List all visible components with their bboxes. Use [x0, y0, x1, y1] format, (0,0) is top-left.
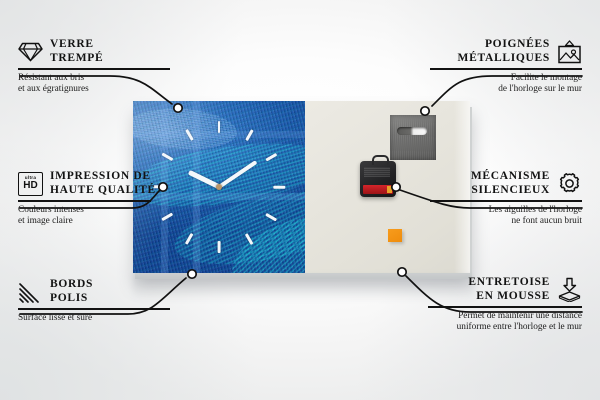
ultra-hd-icon: ultra HD	[18, 171, 43, 196]
foam-spacer-pad	[388, 229, 402, 242]
callout-divider	[18, 68, 170, 70]
callout-description: Permet de maintenir une distance uniform…	[428, 311, 582, 334]
clock-tick	[185, 233, 193, 245]
callout-divider	[18, 200, 151, 202]
movement-hook	[372, 155, 389, 165]
clock-center-cap	[216, 184, 222, 190]
battery-terminal	[387, 186, 392, 193]
callout-title: ENTRETOISE EN MOUSSE	[468, 276, 550, 303]
clock-tick	[265, 213, 277, 221]
callout-verre-trempe: VERRE TREMPÉ Résistant aux bris et aux é…	[18, 38, 170, 95]
callout-header: ENTRETOISE EN MOUSSE	[428, 276, 582, 303]
gear-icon	[557, 171, 582, 196]
battery	[363, 185, 393, 194]
diamond-icon	[18, 39, 43, 64]
clock-movement	[360, 161, 396, 197]
callout-divider	[430, 68, 582, 70]
callout-impression-haute-qualite: ultra HD IMPRESSION DE HAUTE QUALITÉ Cou…	[18, 170, 170, 227]
callout-description: Couleurs intenses et image claire	[18, 205, 170, 228]
callout-header: BORDS POLIS	[18, 278, 170, 305]
product-image	[133, 101, 470, 273]
callout-divider	[428, 306, 582, 308]
callout-title: BORDS POLIS	[50, 278, 93, 305]
clock-tick	[218, 121, 221, 133]
foam-spacer-icon	[557, 277, 582, 302]
callout-title: IMPRESSION DE HAUTE QUALITÉ	[50, 170, 156, 197]
callout-poignees-metalliques: POIGNÉES MÉTALLIQUES Facilite le montage…	[430, 38, 582, 95]
polished-edges-icon	[18, 279, 43, 304]
clock-tick	[265, 153, 277, 161]
callout-header: VERRE TREMPÉ	[18, 38, 170, 65]
callout-divider	[18, 308, 170, 310]
clock-tick	[185, 129, 193, 141]
hanger-keyhole-slot	[397, 127, 427, 135]
product-reflection	[133, 275, 474, 301]
clock-tick	[245, 233, 253, 245]
movement-label	[364, 167, 390, 177]
clock-tick	[245, 129, 253, 141]
callout-entretoise-en-mousse: ENTRETOISE EN MOUSSE Permet de maintenir…	[428, 276, 582, 333]
callout-divider	[430, 200, 582, 202]
callout-header: ultra HD IMPRESSION DE HAUTE QUALITÉ	[18, 170, 170, 197]
callout-description: Facilite le montage de l'horloge sur le …	[430, 73, 582, 96]
callout-description: Résistant aux bris et aux égratignures	[18, 73, 170, 96]
callout-bords-polis: BORDS POLIS Surface lisse et sûre	[18, 278, 170, 324]
clock-tick	[273, 186, 285, 189]
product-infographic: VERRE TREMPÉ Résistant aux bris et aux é…	[0, 0, 600, 400]
picture-frame-hanger-icon	[557, 39, 582, 64]
callout-title: MÉCANISME SILENCIEUX	[471, 170, 550, 197]
callout-mecanisme-silencieux: MÉCANISME SILENCIEUX Les aiguilles de l'…	[430, 170, 582, 227]
clock-tick	[218, 241, 221, 253]
callout-title: VERRE TREMPÉ	[50, 38, 103, 65]
callout-header: MÉCANISME SILENCIEUX	[430, 170, 582, 197]
callout-description: Surface lisse et sûre	[18, 313, 170, 324]
callout-header: POIGNÉES MÉTALLIQUES	[430, 38, 582, 65]
clock-tick	[161, 153, 173, 161]
callout-description: Les aiguilles de l'horloge ne font aucun…	[430, 205, 582, 228]
metal-hanger-plate	[390, 115, 436, 160]
callout-title: POIGNÉES MÉTALLIQUES	[458, 38, 550, 65]
